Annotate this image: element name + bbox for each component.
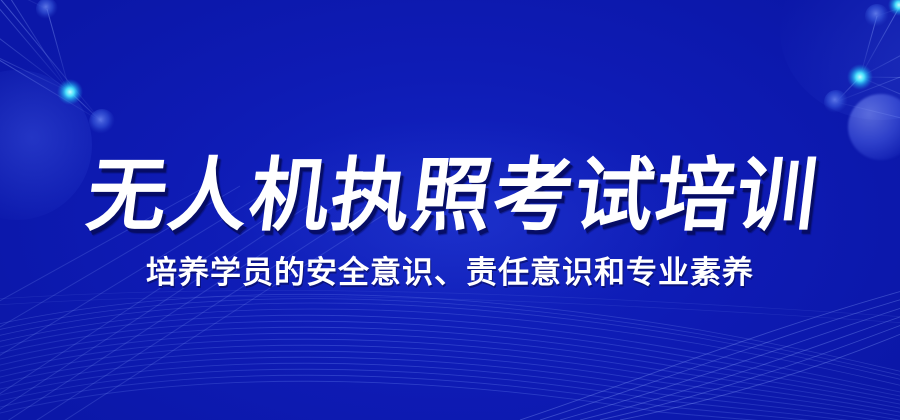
promo-banner: 无人机执照考试培训 培养学员的安全意识、责任意识和专业素养 [0, 0, 900, 420]
banner-headline: 无人机执照考试培训 [77, 156, 823, 236]
banner-subheadline: 培养学员的安全意识、责任意识和专业素养 [146, 258, 754, 289]
banner-content: 无人机执照考试培训 培养学员的安全意识、责任意识和专业素养 [0, 0, 900, 420]
